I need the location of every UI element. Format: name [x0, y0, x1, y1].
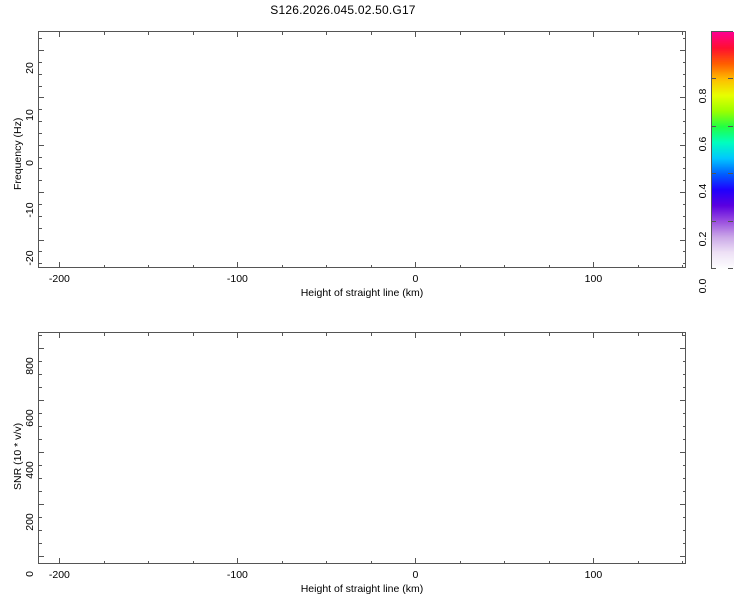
axis-tick	[38, 263, 42, 264]
axis-tick	[38, 180, 42, 181]
axis-tick	[237, 558, 238, 564]
axis-tick	[38, 192, 44, 193]
axis-tick	[38, 413, 42, 414]
colorbar-gradient	[712, 32, 734, 269]
axis-tick	[593, 262, 594, 268]
axis-tick	[104, 561, 105, 565]
axis-tick	[104, 332, 105, 336]
axis-tick	[282, 561, 283, 565]
axis-tick	[460, 31, 461, 35]
axis-tick	[38, 204, 42, 205]
axis-tick	[680, 97, 686, 98]
axis-tick	[38, 426, 42, 427]
axis-tick-label: 10	[24, 97, 36, 133]
axis-tick	[504, 31, 505, 35]
axis-tick	[680, 348, 686, 349]
spectrogram-x-axis-label: Height of straight line (km)	[301, 287, 424, 299]
axis-tick	[683, 109, 687, 110]
colorbar-tick	[728, 126, 733, 127]
axis-tick-label: 0	[412, 273, 418, 285]
axis-tick	[326, 265, 327, 269]
axis-tick	[683, 491, 687, 492]
axis-tick	[683, 216, 687, 217]
axis-tick	[38, 478, 42, 479]
axis-tick	[38, 387, 42, 388]
axis-tick-label: 100	[585, 569, 603, 581]
snr-y-axis-label: SNR (10 * v/v)	[12, 423, 24, 490]
colorbar-tick	[728, 173, 733, 174]
colorbar-tick	[711, 173, 716, 174]
axis-tick	[193, 265, 194, 269]
axis-tick	[460, 332, 461, 336]
axis-tick	[237, 262, 238, 268]
axis-tick	[38, 504, 44, 505]
page-title: S126.2026.045.02.50.G17	[0, 3, 686, 17]
axis-tick	[682, 561, 683, 565]
axis-tick	[680, 145, 686, 146]
axis-tick	[38, 543, 42, 544]
figure-root: S126.2026.045.02.50.G17 -200-1000100-20-…	[0, 0, 750, 600]
colorbar-tick	[728, 268, 733, 269]
axis-tick	[683, 530, 687, 531]
axis-tick	[104, 265, 105, 269]
axis-tick	[683, 228, 687, 229]
axis-tick	[682, 265, 683, 269]
axis-tick	[683, 38, 687, 39]
axis-tick	[683, 335, 687, 336]
axis-tick	[683, 62, 687, 63]
axis-tick	[593, 31, 594, 37]
axis-tick	[38, 216, 42, 217]
axis-tick	[683, 517, 687, 518]
axis-tick	[504, 265, 505, 269]
colorbar-tick	[711, 126, 716, 127]
colorbar-tick	[728, 221, 733, 222]
axis-tick	[38, 348, 44, 349]
axis-tick	[683, 413, 687, 414]
axis-tick	[504, 332, 505, 336]
axis-tick	[593, 332, 594, 338]
axis-tick	[59, 558, 60, 564]
axis-tick	[371, 31, 372, 35]
axis-tick	[415, 332, 416, 338]
axis-tick-label: 100	[585, 273, 603, 285]
axis-tick	[59, 31, 60, 37]
axis-tick	[38, 228, 42, 229]
axis-tick	[59, 332, 60, 338]
axis-tick	[38, 38, 42, 39]
axis-tick	[326, 31, 327, 35]
axis-tick	[683, 439, 687, 440]
axis-tick-label: 0	[24, 145, 36, 181]
axis-tick	[680, 240, 686, 241]
axis-tick	[415, 558, 416, 564]
colorbar-tick-label: 0.4	[697, 173, 709, 209]
spectrogram-axes-frame	[38, 31, 686, 268]
axis-tick	[683, 157, 687, 158]
axis-tick	[638, 265, 639, 269]
snr-axes-frame	[38, 332, 686, 564]
axis-tick	[38, 465, 42, 466]
axis-tick	[59, 262, 60, 268]
axis-tick	[38, 121, 42, 122]
axis-tick	[38, 50, 44, 51]
axis-tick	[549, 332, 550, 336]
axis-tick	[683, 543, 687, 544]
axis-tick	[683, 86, 687, 87]
axis-tick	[504, 561, 505, 565]
axis-tick-label: 600	[24, 400, 36, 436]
axis-tick	[371, 265, 372, 269]
axis-tick-label: 800	[24, 348, 36, 384]
axis-tick	[193, 332, 194, 336]
colorbar-tick	[728, 78, 733, 79]
axis-tick	[38, 157, 42, 158]
axis-tick-label: -100	[227, 569, 248, 581]
axis-tick	[680, 452, 686, 453]
axis-tick	[38, 439, 42, 440]
axis-tick	[683, 478, 687, 479]
axis-tick	[415, 262, 416, 268]
axis-tick	[38, 133, 42, 134]
axis-tick-label: -10	[24, 192, 36, 228]
axis-tick	[683, 465, 687, 466]
spectrogram-y-axis-label: Frequency (Hz)	[12, 117, 24, 189]
axis-tick	[148, 561, 149, 565]
axis-tick	[680, 556, 686, 557]
axis-tick-label: -200	[49, 569, 70, 581]
axis-tick	[282, 31, 283, 35]
axis-tick	[38, 491, 42, 492]
axis-tick	[683, 426, 687, 427]
axis-tick	[38, 374, 42, 375]
axis-tick	[282, 265, 283, 269]
colorbar-tick	[711, 78, 716, 79]
axis-tick	[237, 31, 238, 37]
axis-tick	[38, 530, 42, 531]
axis-tick	[193, 561, 194, 565]
axis-tick	[549, 561, 550, 565]
axis-tick	[680, 50, 686, 51]
axis-tick	[104, 31, 105, 35]
colorbar-tick	[711, 268, 716, 269]
axis-tick	[683, 251, 687, 252]
axis-tick	[38, 62, 42, 63]
colorbar-tick-label: 0.2	[697, 221, 709, 257]
colorbar-tick-label: 0.0	[697, 268, 709, 304]
axis-tick	[683, 168, 687, 169]
axis-tick	[38, 556, 44, 557]
colorbar-tick-label: 0.8	[697, 78, 709, 114]
axis-tick	[682, 31, 683, 35]
axis-tick	[237, 332, 238, 338]
colorbar	[711, 31, 733, 268]
axis-tick	[38, 240, 44, 241]
axis-tick-label: 20	[24, 50, 36, 86]
axis-tick	[638, 332, 639, 336]
axis-tick-label: -20	[24, 240, 36, 276]
axis-tick	[680, 192, 686, 193]
axis-tick	[38, 145, 44, 146]
axis-tick	[371, 561, 372, 565]
axis-tick	[38, 335, 42, 336]
axis-tick	[38, 86, 42, 87]
axis-tick	[683, 121, 687, 122]
axis-tick-label: -200	[49, 273, 70, 285]
axis-tick	[683, 204, 687, 205]
axis-tick	[683, 180, 687, 181]
axis-tick	[193, 31, 194, 35]
axis-tick	[683, 133, 687, 134]
axis-tick	[282, 332, 283, 336]
axis-tick-label: 400	[24, 452, 36, 488]
axis-tick	[148, 265, 149, 269]
axis-tick	[38, 251, 42, 252]
axis-tick-label: 0	[24, 556, 36, 592]
axis-tick	[683, 361, 687, 362]
axis-tick	[593, 558, 594, 564]
axis-tick	[683, 387, 687, 388]
axis-tick	[148, 332, 149, 336]
axis-tick	[680, 504, 686, 505]
axis-tick-label: 200	[24, 504, 36, 540]
axis-tick-label: 0	[412, 569, 418, 581]
axis-tick	[148, 31, 149, 35]
axis-tick	[683, 374, 687, 375]
axis-tick	[415, 31, 416, 37]
axis-tick	[38, 400, 44, 401]
axis-tick	[683, 263, 687, 264]
axis-tick	[326, 561, 327, 565]
axis-tick	[38, 97, 44, 98]
colorbar-tick	[711, 221, 716, 222]
axis-tick	[38, 109, 42, 110]
axis-tick	[549, 31, 550, 35]
axis-tick	[638, 561, 639, 565]
axis-tick	[38, 452, 44, 453]
axis-tick	[38, 74, 42, 75]
axis-tick	[38, 517, 42, 518]
axis-tick	[680, 400, 686, 401]
axis-tick	[460, 265, 461, 269]
axis-tick	[38, 168, 42, 169]
snr-x-axis-label: Height of straight line (km)	[301, 583, 424, 595]
axis-tick	[326, 332, 327, 336]
axis-tick	[371, 332, 372, 336]
axis-tick	[549, 265, 550, 269]
axis-tick-label: -100	[227, 273, 248, 285]
axis-tick	[683, 74, 687, 75]
axis-tick	[460, 561, 461, 565]
axis-tick	[638, 31, 639, 35]
axis-tick	[38, 361, 42, 362]
colorbar-tick-label: 0.6	[697, 126, 709, 162]
